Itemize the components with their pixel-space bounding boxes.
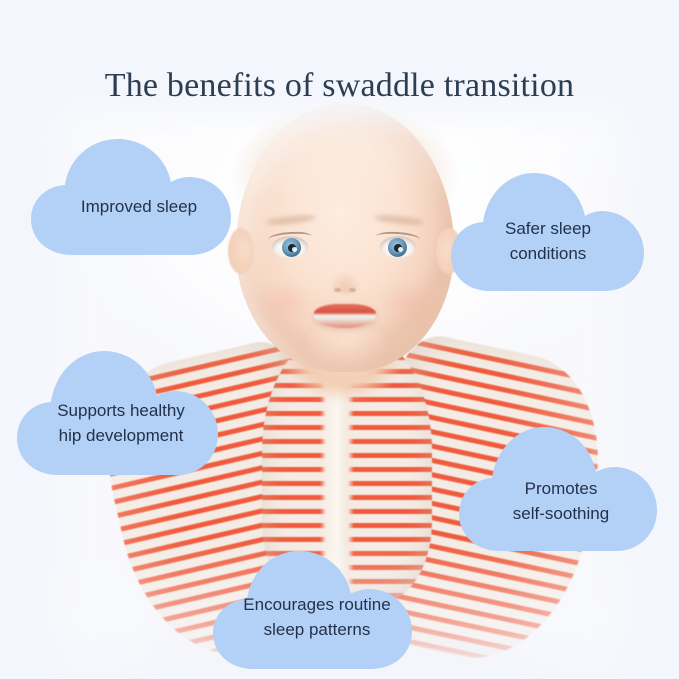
page-title: The benefits of swaddle transition — [0, 67, 679, 105]
cloud-self-soothing[interactable]: Promotes self-soothing — [456, 424, 666, 552]
cloud-label: Safer sleep conditions — [448, 216, 648, 266]
cloud-label: Supports healthy hip development — [14, 398, 228, 448]
cloud-label: Encourages routine sleep patterns — [209, 592, 425, 642]
cloud-sleep-patterns[interactable]: Encourages routine sleep patterns — [209, 548, 425, 670]
cloud-label: Improved sleep — [27, 194, 251, 219]
infographic-canvas: The benefits of swaddle transition Impro… — [0, 0, 679, 679]
cloud-label: Promotes self-soothing — [456, 476, 666, 526]
cloud-hip-development[interactable]: Supports healthy hip development — [14, 348, 228, 476]
cloud-improved-sleep[interactable]: Improved sleep — [27, 136, 251, 256]
cloud-safer-sleep[interactable]: Safer sleep conditions — [448, 170, 648, 292]
